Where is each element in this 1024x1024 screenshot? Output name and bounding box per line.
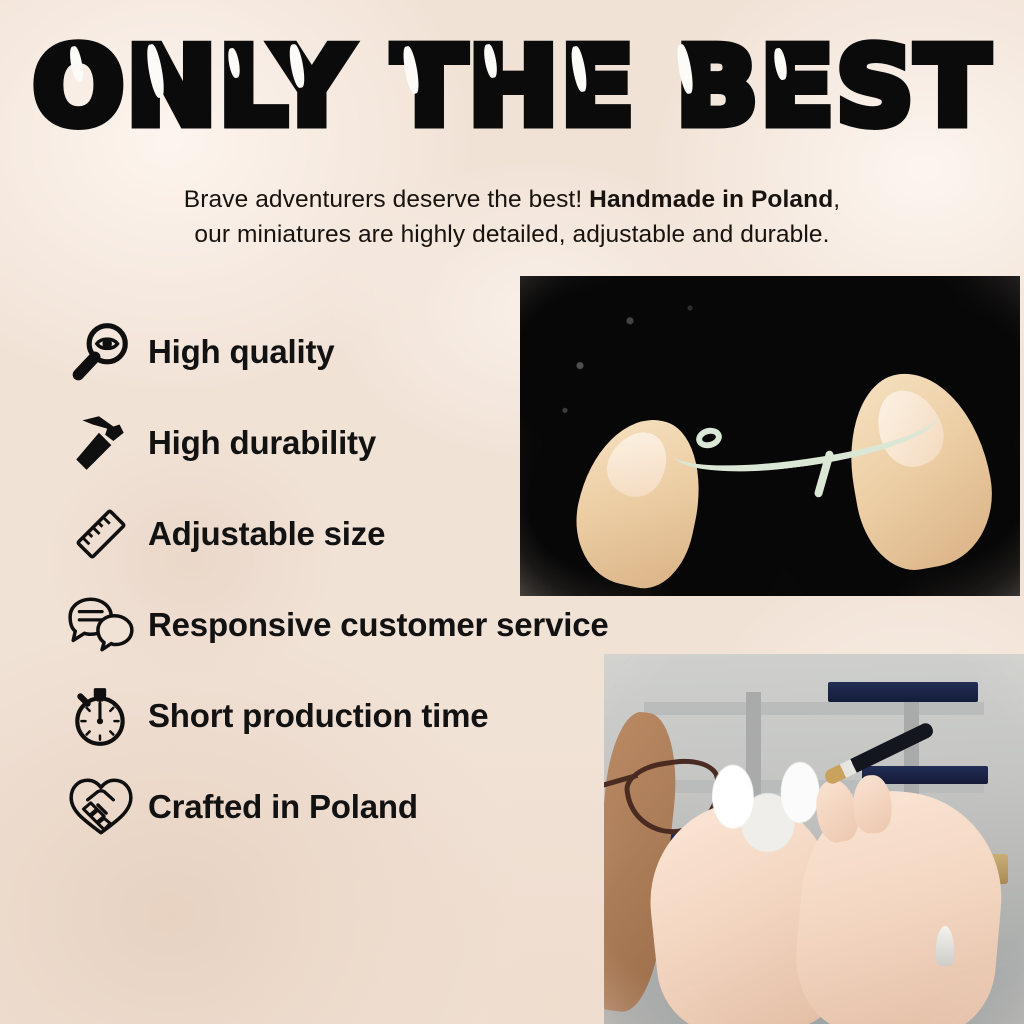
feature-label: High durability	[140, 424, 376, 462]
subtitle-highlight: Handmade in Poland	[589, 186, 833, 213]
hammer-icon	[62, 407, 140, 479]
flexing-miniature-photo	[520, 276, 1020, 596]
ruler-icon	[62, 498, 140, 570]
headline: ONLY THE BEST	[0, 34, 1024, 142]
handshake-heart-icon	[62, 771, 140, 843]
workshop-painting-photo	[604, 654, 1024, 1024]
feature-label: High quality	[140, 333, 334, 371]
speech-bubbles-icon	[62, 589, 140, 661]
feature-item: Crafted in Poland	[62, 761, 609, 852]
stopwatch-icon	[62, 680, 140, 752]
subtitle: Brave adventurers deserve the best! Hand…	[0, 183, 1024, 253]
headline-text: ONLY THE BEST	[33, 25, 992, 150]
feature-item: Short production time	[62, 670, 609, 761]
primed-miniature	[936, 926, 954, 966]
subtitle-line-1: Brave adventurers deserve the best! Hand…	[0, 183, 1024, 218]
feature-label: Responsive customer service	[140, 606, 609, 644]
feature-label: Crafted in Poland	[140, 788, 418, 826]
feature-label: Short production time	[140, 697, 488, 735]
subtitle-line-2: our miniatures are highly detailed, adju…	[0, 218, 1024, 253]
subtitle-line-1-lead: Brave adventurers deserve the best!	[184, 186, 589, 213]
feature-label: Adjustable size	[140, 515, 385, 553]
shelf	[644, 702, 984, 715]
subtitle-line-1-tail: ,	[833, 186, 840, 213]
magnifier-eye-icon	[62, 316, 140, 388]
parts-tray	[828, 682, 978, 702]
promo-poster: ONLY THE BEST Brave adventurers deserve …	[0, 0, 1024, 1024]
